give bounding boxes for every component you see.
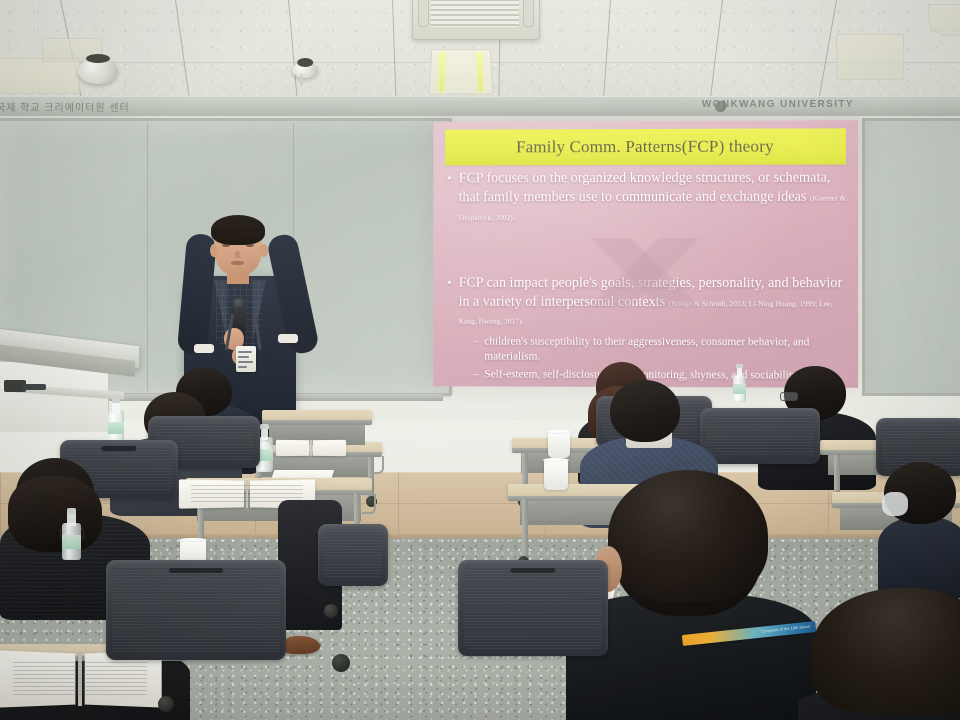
bullet-text-wrap: FCP can impact people's goals, strategie… xyxy=(459,274,848,331)
sub-bullet-marker: – xyxy=(473,368,479,383)
attendee-hair xyxy=(812,588,960,714)
whiteboard-seam xyxy=(147,123,148,391)
chair[interactable] xyxy=(106,560,286,660)
glasses-icon xyxy=(780,392,798,401)
shoe xyxy=(282,636,320,654)
smoke-detector-icon xyxy=(292,62,318,78)
slide-title-bar: Family Comm. Patterns(FCP) theory xyxy=(445,128,846,165)
desk-caster xyxy=(324,604,338,618)
attendee-hair xyxy=(608,470,768,602)
water-bottle xyxy=(733,364,746,402)
paper-cup xyxy=(544,460,568,490)
lectern-equipment xyxy=(22,384,46,390)
detector-stem xyxy=(300,74,303,86)
bullet-marker: • xyxy=(447,169,452,225)
chair[interactable] xyxy=(458,560,608,656)
projected-slide: Family Comm. Patterns(FCP) theory • FCP … xyxy=(433,120,858,388)
slide-spacer xyxy=(447,225,848,273)
recessed-ceiling-light xyxy=(429,49,494,94)
presenter-ear xyxy=(210,244,218,257)
slide-bullet: • FCP can impact people's goals, strateg… xyxy=(447,274,848,331)
face-mask-icon xyxy=(882,492,908,516)
ceiling-panel xyxy=(928,4,960,36)
ceiling-panel xyxy=(836,34,904,80)
desk-caster xyxy=(332,654,350,672)
slide-bullet: • FCP focuses on the organized knowledge… xyxy=(447,169,848,226)
vent-grille xyxy=(431,0,519,27)
chair[interactable] xyxy=(318,524,388,586)
smoke-detector-icon xyxy=(78,58,118,84)
slide-body: • FCP focuses on the organized knowledge… xyxy=(447,169,848,387)
presenter-mouth xyxy=(231,261,244,265)
presenter-eye xyxy=(222,244,230,247)
open-book xyxy=(276,440,346,456)
banner-left-text: 국제 학교 크리에이터원 센터 xyxy=(0,99,130,114)
bullet-marker: • xyxy=(447,274,452,330)
lanyard-text: Congress of the 19th Seoul xyxy=(761,624,810,634)
desk-caster xyxy=(158,696,174,712)
slide-title: Family Comm. Patterns(FCP) theory xyxy=(516,137,774,158)
air-conditioning-vent-icon xyxy=(412,0,540,40)
presenter-hair xyxy=(211,215,265,245)
sub-bullet-marker: – xyxy=(473,335,479,365)
light-tube xyxy=(439,52,444,92)
vent-side-louver xyxy=(523,0,534,27)
light-tube xyxy=(477,52,482,92)
ceiling-panel xyxy=(0,58,80,94)
presenter-ear xyxy=(260,244,268,257)
water-bottle xyxy=(108,398,124,444)
attendee-hair xyxy=(8,476,102,552)
shirt-cuff xyxy=(194,344,214,353)
detector-cap xyxy=(297,58,313,67)
bullet-text-wrap: FCP focuses on the organized knowledge s… xyxy=(459,169,848,226)
attendee-torso xyxy=(878,516,960,598)
bullet-text: FCP focuses on the organized knowledge s… xyxy=(459,170,831,206)
lecture-hall-photo: 국제 학교 크리에이터원 센터 WONKWANG UNIVERSITY Fami… xyxy=(0,0,960,720)
attendee-far-right-foreground xyxy=(808,588,960,720)
whiteboard-right-panel xyxy=(862,118,960,396)
paper-cup xyxy=(548,432,570,458)
vent-side-louver xyxy=(418,0,429,27)
presenter-nose xyxy=(235,251,240,258)
shirt-cuff xyxy=(278,334,298,343)
ceiling xyxy=(0,0,960,104)
open-book xyxy=(0,652,160,706)
water-bottle xyxy=(62,508,81,560)
attendee-far-right-mask xyxy=(878,462,960,592)
detector-cap xyxy=(86,54,110,63)
sub-bullet-text: children's susceptibility to their aggre… xyxy=(484,335,848,366)
microphone-head xyxy=(233,298,246,310)
room-banner-strip: 국제 학교 크리에이터원 센터 WONKWANG UNIVERSITY xyxy=(0,96,960,118)
chair[interactable] xyxy=(700,408,820,464)
presenter-eye xyxy=(246,244,254,247)
attendee-head xyxy=(610,380,680,442)
banner-right-text: WONKWANG UNIVERSITY xyxy=(702,99,854,110)
